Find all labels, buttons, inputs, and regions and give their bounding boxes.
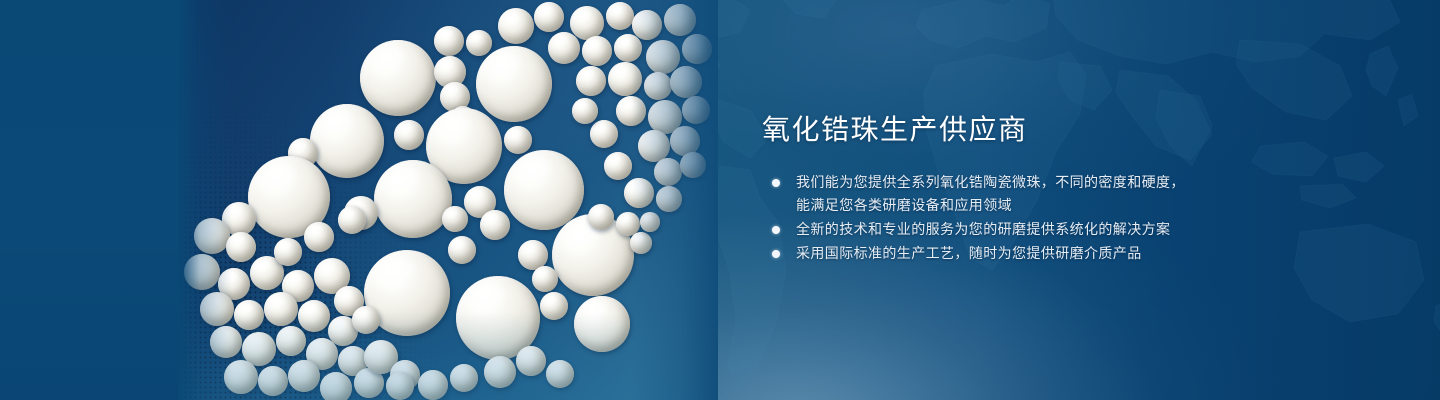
photo-edge-feather (178, 0, 718, 400)
list-item-line2: 能满足您各类研磨设备和应用领域 (796, 194, 1236, 217)
hero-banner: 氧化锆珠生产供应商 我们能为您提供全系列氧化锆陶瓷微珠，不同的密度和硬度， 能满… (0, 0, 1440, 400)
list-item-line1: 采用国际标准的生产工艺，随时为您提供研磨介质产品 (796, 245, 1142, 261)
zirconia-ceramic-beads-photo (178, 0, 718, 400)
feature-list: 我们能为您提供全系列氧化锆陶瓷微珠，不同的密度和硬度， 能满足您各类研磨设备和应… (766, 171, 1236, 265)
page-title: 氧化锆珠生产供应商 (762, 113, 1028, 147)
bullet-dot-icon (772, 250, 780, 258)
list-item: 采用国际标准的生产工艺，随时为您提供研磨介质产品 (766, 242, 1236, 265)
bullet-dot-icon (772, 226, 780, 234)
list-item-line1: 全新的技术和专业的服务为您的研磨提供系统化的解决方案 (796, 221, 1170, 237)
list-item: 我们能为您提供全系列氧化锆陶瓷微珠，不同的密度和硬度， 能满足您各类研磨设备和应… (766, 171, 1236, 217)
list-item-line1: 我们能为您提供全系列氧化锆陶瓷微珠，不同的密度和硬度， (796, 174, 1185, 190)
bullet-dot-icon (772, 179, 780, 187)
list-item: 全新的技术和专业的服务为您的研磨提供系统化的解决方案 (766, 218, 1236, 241)
banner-text-column: 氧化锆珠生产供应商 我们能为您提供全系列氧化锆陶瓷微珠，不同的密度和硬度， 能满… (762, 0, 1322, 400)
